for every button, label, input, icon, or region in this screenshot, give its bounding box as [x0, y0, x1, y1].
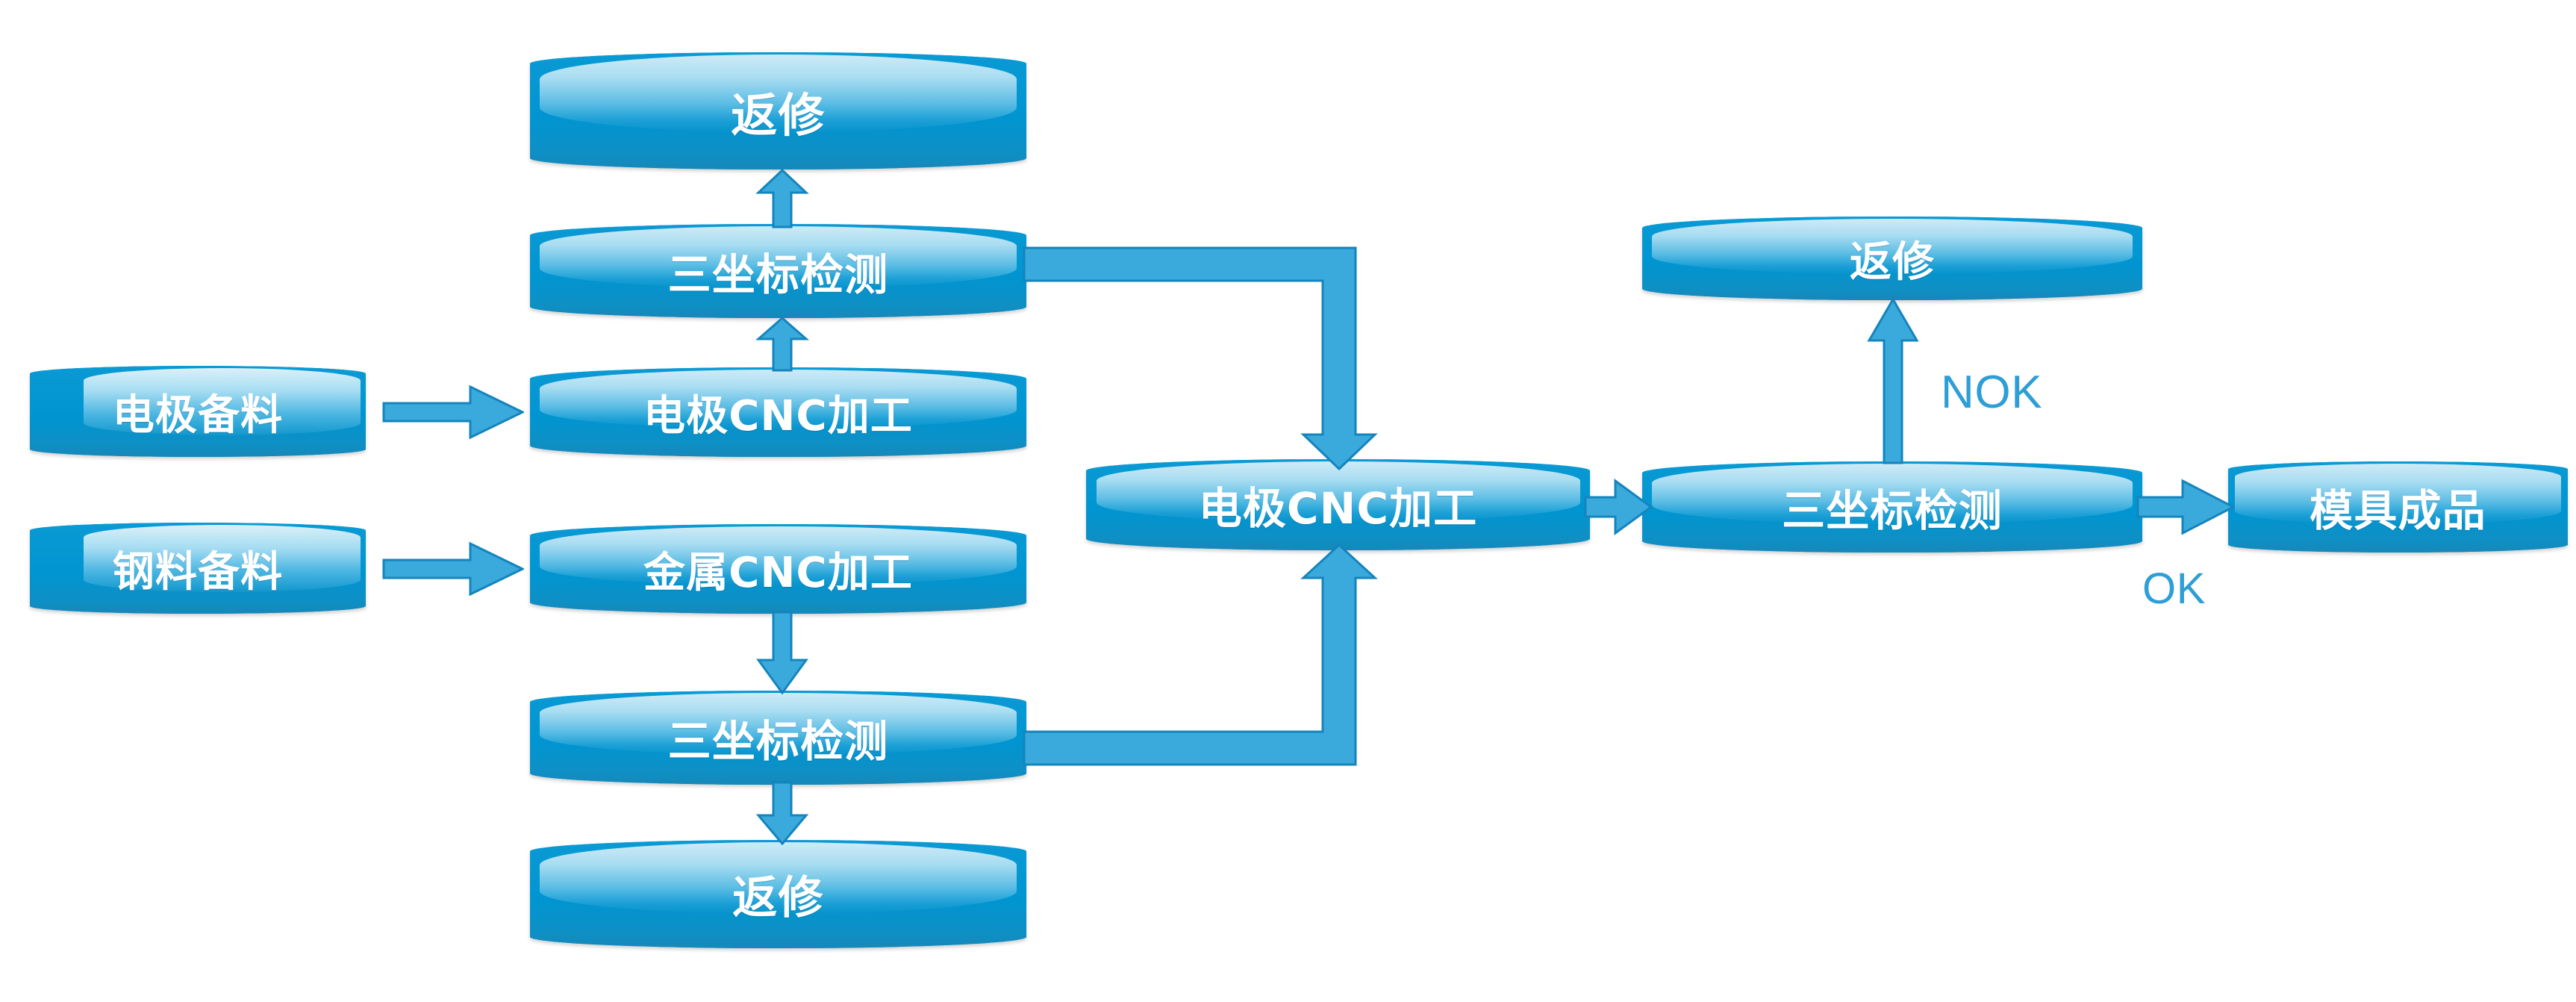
- arrow-cmm-metal-to-rework-bottom: [752, 781, 812, 845]
- edge-label-nok: NOK: [1941, 366, 2042, 419]
- node-mold-product[interactable]: 模具成品: [2228, 461, 2568, 553]
- node-label: 模具成品: [2302, 476, 2494, 538]
- node-label: 返修: [723, 78, 832, 145]
- arrow-cmm-final-to-rework-right: [1863, 297, 1923, 464]
- node-rework-top[interactable]: 返修: [530, 52, 1026, 169]
- arrow-edm-to-cmm-final: [1584, 478, 1653, 536]
- elbow-cmm-metal-to-edm: [1023, 544, 1381, 766]
- arrow-steel-prep-to-metal-cnc: [382, 539, 524, 599]
- node-cmm-final[interactable]: 三坐标检测: [1642, 461, 2142, 553]
- node-edm-electrode-cnc[interactable]: 电极CNC加工: [1086, 459, 1590, 550]
- node-label: 返修: [725, 862, 831, 927]
- node-label: 三坐标检测: [661, 706, 896, 769]
- elbow-cmm-electrode-to-edm: [1023, 246, 1381, 470]
- node-label: 电极备料: [105, 382, 290, 442]
- flowchart-canvas: 返修 三坐标检测 电极CNC加工 金属CNC加工 三坐标检测 返修 电极备料 钢…: [0, 0, 2576, 1002]
- arrow-cmm-final-to-mold-product: [2136, 478, 2235, 536]
- node-label: 电极CNC加工: [1191, 473, 1485, 536]
- node-label: 返修: [1842, 228, 1942, 289]
- arrow-electrode-prep-to-electrode-cnc: [382, 382, 524, 442]
- node-rework-bottom[interactable]: 返修: [530, 840, 1026, 948]
- node-rework-right[interactable]: 返修: [1642, 217, 2142, 300]
- node-label: 钢料备料: [105, 538, 290, 599]
- arrow-metal-cnc-to-cmm-metal: [752, 611, 812, 694]
- arrow-electrode-cnc-to-cmm-electrode: [752, 317, 812, 372]
- node-label: 三坐标检测: [661, 240, 896, 302]
- edge-label-ok: OK: [2142, 564, 2206, 614]
- node-steel-prep[interactable]: 钢料备料: [30, 523, 366, 614]
- node-metal-cnc[interactable]: 金属CNC加工: [530, 524, 1026, 614]
- node-electrode-cnc[interactable]: 电极CNC加工: [530, 367, 1026, 457]
- node-cmm-metal[interactable]: 三坐标检测: [530, 691, 1026, 785]
- node-label: 三坐标检测: [1774, 476, 2010, 538]
- node-cmm-electrode[interactable]: 三坐标检测: [530, 224, 1026, 318]
- node-label: 电极CNC加工: [636, 382, 920, 443]
- node-label: 金属CNC加工: [636, 539, 920, 600]
- node-electrode-prep[interactable]: 电极备料: [30, 366, 366, 457]
- arrow-cmm-electrode-to-rework-top: [752, 169, 812, 228]
